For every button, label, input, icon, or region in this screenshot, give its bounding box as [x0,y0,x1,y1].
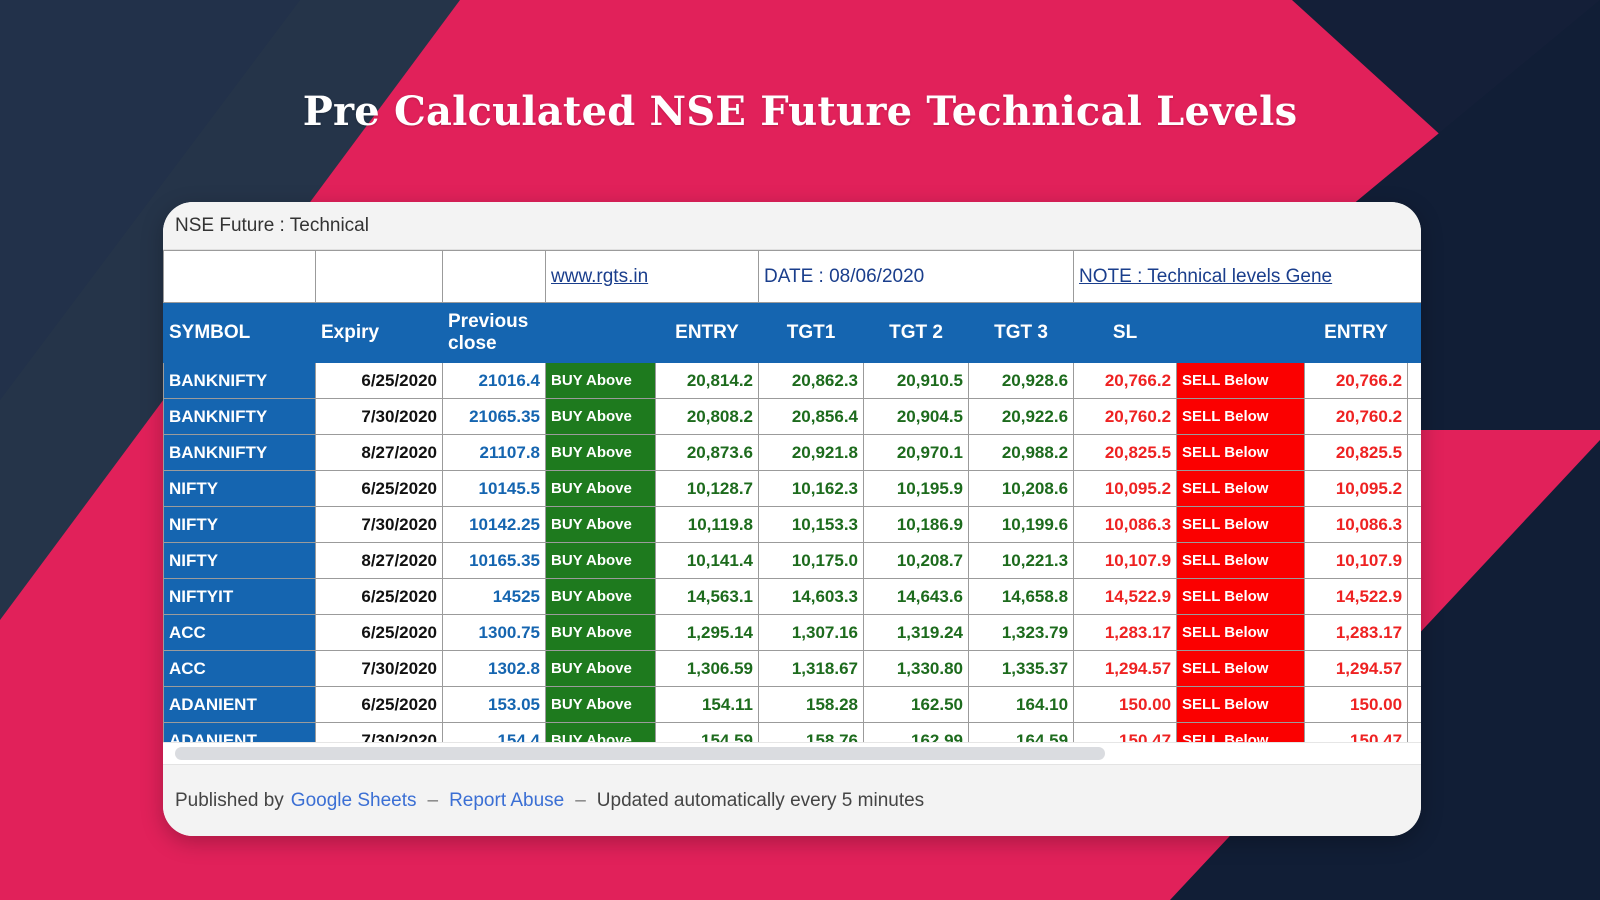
table-cell-sell-label[interactable]: SELL Below [1177,435,1305,471]
table-cell-tgt1[interactable]: 20,856.4 [759,399,864,435]
table-cell-symbol[interactable]: BANKNIFTY [164,399,316,435]
table-cell-tgt3[interactable]: 14,658.8 [969,579,1074,615]
table-cell-buy-label[interactable]: BUY Above [546,507,656,543]
table-cell-tgt3[interactable]: 164.10 [969,687,1074,723]
table-cell-sell-label[interactable]: SELL Below [1177,399,1305,435]
header-sl[interactable]: SL [1074,303,1177,363]
table-cell-expiry[interactable]: 6/25/2020 [316,471,443,507]
header-tgt1[interactable]: TGT1 [759,303,864,363]
header-tgt2[interactable]: TGT 2 [864,303,969,363]
table-cell-sell-label[interactable]: SELL Below [1177,687,1305,723]
table-cell-tgt2[interactable]: 10,186.9 [864,507,969,543]
table-cell-tgt2[interactable]: 10,195.9 [864,471,969,507]
header-symbol[interactable]: SYMBOL [164,303,316,363]
table-cell-tgt1-b[interactable]: 10,074.3 [1408,543,1421,579]
sheet-tab-title: NSE Future : Technical [163,202,1421,250]
table-cell-expiry[interactable]: 6/25/2020 [316,579,443,615]
table-cell-sl[interactable]: 1,283.17 [1074,615,1177,651]
table-cell-tgt1[interactable]: 10,162.3 [759,471,864,507]
table-cell-tgt3[interactable]: 10,221.3 [969,543,1074,579]
table-cell-buy-label[interactable]: BUY Above [546,687,656,723]
table-cell-tgt1[interactable]: 20,921.8 [759,435,864,471]
table-cell-entry[interactable]: 10,128.7 [656,471,759,507]
table-body: www.rgts.in DATE : 08/06/2020 NOTE : Tec… [164,251,1422,759]
google-sheet-card: NSE Future : Technical www.rgts.in [163,202,1421,836]
meta-note-cell[interactable]: NOTE : Technical levels Gene [1074,251,1421,303]
table-cell-buy-label[interactable]: BUY Above [546,471,656,507]
table-cell-entry[interactable]: 20,814.2 [656,363,759,399]
table-cell-tgt2[interactable]: 20,970.1 [864,435,969,471]
table-cell-expiry[interactable]: 8/27/2020 [316,435,443,471]
header-entry[interactable]: ENTRY [656,303,759,363]
table-row[interactable]: BANKNIFTY8/27/202021107.8BUY Above20,873… [164,435,1422,471]
table-cell-tgt1[interactable]: 10,153.3 [759,507,864,543]
table-cell-tgt3[interactable]: 20,922.6 [969,399,1074,435]
table-cell-entry[interactable]: 154.11 [656,687,759,723]
meta-blank-3 [443,251,546,303]
sheet-footer: Published by Google Sheets – Report Abus… [163,764,1421,836]
horizontal-scrollbar-thumb[interactable] [175,747,1105,760]
report-abuse-link[interactable]: Report Abuse [449,790,564,812]
table-cell-expiry[interactable]: 7/30/2020 [316,651,443,687]
table-cell-tgt2[interactable]: 1,330.80 [864,651,969,687]
table-cell-tgt1[interactable]: 1,307.16 [759,615,864,651]
table-row[interactable]: NIFTY6/25/202010145.5BUY Above10,128.710… [164,471,1422,507]
table-cell-previous-close[interactable]: 10145.5 [443,471,546,507]
table-cell-previous-close[interactable]: 21065.35 [443,399,546,435]
table-cell-entry[interactable]: 1,295.14 [656,615,759,651]
table-cell-sl[interactable]: 14,522.9 [1074,579,1177,615]
table-cell-entry-2[interactable]: 20,760.2 [1305,399,1408,435]
table-cell-buy-label[interactable]: BUY Above [546,543,656,579]
table-cell-tgt1-b[interactable]: 145.83 [1408,687,1421,723]
table-cell-sell-label[interactable]: SELL Below [1177,543,1305,579]
table-cell-previous-close[interactable]: 1300.75 [443,615,546,651]
table-cell-tgt2[interactable]: 10,208.7 [864,543,969,579]
table-cell-sell-label[interactable]: SELL Below [1177,615,1305,651]
table-cell-entry-2[interactable]: 1,283.17 [1305,615,1408,651]
meta-blank-1 [164,251,316,303]
table-cell-tgt2[interactable]: 20,904.5 [864,399,969,435]
table-cell-sl[interactable]: 10,095.2 [1074,471,1177,507]
table-cell-tgt3[interactable]: 1,335.37 [969,651,1074,687]
table-row[interactable]: ADANIENT6/25/2020153.05BUY Above154.1115… [164,687,1422,723]
table-cell-tgt3[interactable]: 10,199.6 [969,507,1074,543]
table-cell-entry[interactable]: 14,563.1 [656,579,759,615]
table-cell-sl[interactable]: 20,766.2 [1074,363,1177,399]
page-title: Pre Calculated NSE Future Technical Leve… [0,88,1600,135]
table-cell-tgt3[interactable]: 10,208.6 [969,471,1074,507]
table-cell-previous-close[interactable]: 1302.8 [443,651,546,687]
table-cell-buy-label[interactable]: BUY Above [546,651,656,687]
table-cell-tgt1-b[interactable]: 14,482.6 [1408,579,1421,615]
header-tgt1-b[interactable]: TGT1 [1408,303,1421,363]
table-row[interactable]: NIFTYIT6/25/202014525BUY Above14,563.114… [164,579,1422,615]
table-header-row: SYMBOL Expiry Previous close ENTRY TGT1 … [164,303,1422,363]
table-cell-tgt3[interactable]: 20,988.2 [969,435,1074,471]
table-cell-expiry[interactable]: 6/25/2020 [316,615,443,651]
table-row[interactable]: NIFTY7/30/202010142.25BUY Above10,119.81… [164,507,1422,543]
table-cell-tgt2[interactable]: 162.50 [864,687,969,723]
table-cell-tgt1-b[interactable]: 1,282.49 [1408,651,1421,687]
footer-separator-1: – [424,790,443,812]
table-cell-tgt1-b[interactable]: 20,718.0 [1408,363,1421,399]
table-cell-tgt3[interactable]: 1,323.79 [969,615,1074,651]
table-cell-expiry[interactable]: 7/30/2020 [316,399,443,435]
table-cell-symbol[interactable]: ACC [164,615,316,651]
footer-updated-text: Updated automatically every 5 minutes [597,790,924,812]
table-cell-buy-label[interactable]: BUY Above [546,579,656,615]
table-cell-sell-label[interactable]: SELL Below [1177,507,1305,543]
horizontal-scrollbar[interactable] [163,742,1421,764]
table-cell-expiry[interactable]: 6/25/2020 [316,687,443,723]
table-cell-tgt1-b[interactable]: 10,061.6 [1408,471,1421,507]
report-date: DATE : 08/06/2020 [764,266,924,287]
header-entry-2[interactable]: ENTRY [1305,303,1408,363]
table-cell-tgt2[interactable]: 14,643.6 [864,579,969,615]
table-cell-symbol[interactable]: NIFTYIT [164,579,316,615]
table-cell-previous-close[interactable]: 21016.4 [443,363,546,399]
table-cell-entry[interactable]: 1,306.59 [656,651,759,687]
table-cell-tgt1-b[interactable]: 20,712.0 [1408,399,1421,435]
table-cell-symbol[interactable]: NIFTY [164,543,316,579]
table-row[interactable]: ACC6/25/20201300.75BUY Above1,295.141,30… [164,615,1422,651]
table-cell-tgt1[interactable]: 14,603.3 [759,579,864,615]
table-cell-entry-2[interactable]: 20,766.2 [1305,363,1408,399]
table-cell-tgt1[interactable]: 1,318.67 [759,651,864,687]
table-cell-entry[interactable]: 20,873.6 [656,435,759,471]
table-cell-symbol[interactable]: NIFTY [164,507,316,543]
table-cell-entry-2[interactable]: 20,825.5 [1305,435,1408,471]
table-cell-sell-label[interactable]: SELL Below [1177,363,1305,399]
table-cell-symbol[interactable]: BANKNIFTY [164,435,316,471]
table-cell-sl[interactable]: 20,825.5 [1074,435,1177,471]
table-cell-buy-label[interactable]: BUY Above [546,435,656,471]
table-cell-sl[interactable]: 1,294.57 [1074,651,1177,687]
header-previous-close[interactable]: Previous close [443,303,546,363]
meta-date-cell: DATE : 08/06/2020 [759,251,1074,303]
technical-levels-table: www.rgts.in DATE : 08/06/2020 NOTE : Tec… [163,250,1421,759]
table-cell-previous-close[interactable]: 14525 [443,579,546,615]
table-row[interactable]: BANKNIFTY7/30/202021065.35BUY Above20,80… [164,399,1422,435]
table-cell-symbol[interactable]: BANKNIFTY [164,363,316,399]
table-cell-symbol[interactable]: NIFTY [164,471,316,507]
table-row[interactable]: NIFTY8/27/202010165.35BUY Above10,141.41… [164,543,1422,579]
note-text[interactable]: NOTE : Technical levels Gene [1079,266,1332,287]
table-cell-entry-2[interactable]: 1,294.57 [1305,651,1408,687]
google-sheets-link[interactable]: Google Sheets [291,790,417,812]
table-cell-entry-2[interactable]: 10,107.9 [1305,543,1408,579]
table-cell-sl[interactable]: 10,107.9 [1074,543,1177,579]
footer-published-by-label: Published by [175,790,284,812]
table-row[interactable]: BANKNIFTY6/25/202021016.4BUY Above20,814… [164,363,1422,399]
website-link[interactable]: www.rgts.in [551,266,648,287]
table-cell-symbol[interactable]: ADANIENT [164,687,316,723]
table-cell-entry-2[interactable]: 10,095.2 [1305,471,1408,507]
table-cell-buy-label[interactable]: BUY Above [546,615,656,651]
table-cell-sl[interactable]: 20,760.2 [1074,399,1177,435]
table-cell-sell-label[interactable]: SELL Below [1177,651,1305,687]
table-cell-previous-close[interactable]: 21107.8 [443,435,546,471]
header-tgt3[interactable]: TGT 3 [969,303,1074,363]
table-cell-previous-close[interactable]: 10165.35 [443,543,546,579]
table-cell-expiry[interactable]: 8/27/2020 [316,543,443,579]
table-cell-symbol[interactable]: ACC [164,651,316,687]
spreadsheet-grid-container[interactable]: www.rgts.in DATE : 08/06/2020 NOTE : Tec… [163,250,1421,764]
table-cell-sell-label[interactable]: SELL Below [1177,471,1305,507]
table-row[interactable]: ACC7/30/20201302.8BUY Above1,306.591,318… [164,651,1422,687]
table-cell-tgt1-b[interactable]: 20,777.2 [1408,435,1421,471]
table-cell-entry-2[interactable]: 150.00 [1305,687,1408,723]
meta-website-cell[interactable]: www.rgts.in [546,251,759,303]
table-cell-tgt1[interactable]: 158.28 [759,687,864,723]
header-buy-side [546,303,656,363]
table-cell-tgt2[interactable]: 1,319.24 [864,615,969,651]
table-cell-sl[interactable]: 10,086.3 [1074,507,1177,543]
table-cell-sell-label[interactable]: SELL Below [1177,579,1305,615]
table-cell-entry-2[interactable]: 10,086.3 [1305,507,1408,543]
header-sell-side [1177,303,1305,363]
table-cell-entry[interactable]: 20,808.2 [656,399,759,435]
footer-separator-2: – [571,790,590,812]
table-cell-tgt2[interactable]: 20,910.5 [864,363,969,399]
table-cell-tgt3[interactable]: 20,928.6 [969,363,1074,399]
table-cell-expiry[interactable]: 6/25/2020 [316,363,443,399]
table-cell-previous-close[interactable]: 153.05 [443,687,546,723]
table-cell-tgt1-b[interactable]: 1,271.15 [1408,615,1421,651]
table-cell-expiry[interactable]: 7/30/2020 [316,507,443,543]
header-expiry[interactable]: Expiry [316,303,443,363]
table-cell-buy-label[interactable]: BUY Above [546,363,656,399]
table-cell-previous-close[interactable]: 10142.25 [443,507,546,543]
table-cell-buy-label[interactable]: BUY Above [546,399,656,435]
table-cell-tgt1[interactable]: 10,175.0 [759,543,864,579]
table-cell-entry[interactable]: 10,141.4 [656,543,759,579]
table-cell-tgt1[interactable]: 20,862.3 [759,363,864,399]
meta-blank-2 [316,251,443,303]
table-meta-row: www.rgts.in DATE : 08/06/2020 NOTE : Tec… [164,251,1422,303]
table-cell-sl[interactable]: 150.00 [1074,687,1177,723]
table-cell-entry-2[interactable]: 14,522.9 [1305,579,1408,615]
table-cell-entry[interactable]: 10,119.8 [656,507,759,543]
table-cell-tgt1-b[interactable]: 10,052.7 [1408,507,1421,543]
